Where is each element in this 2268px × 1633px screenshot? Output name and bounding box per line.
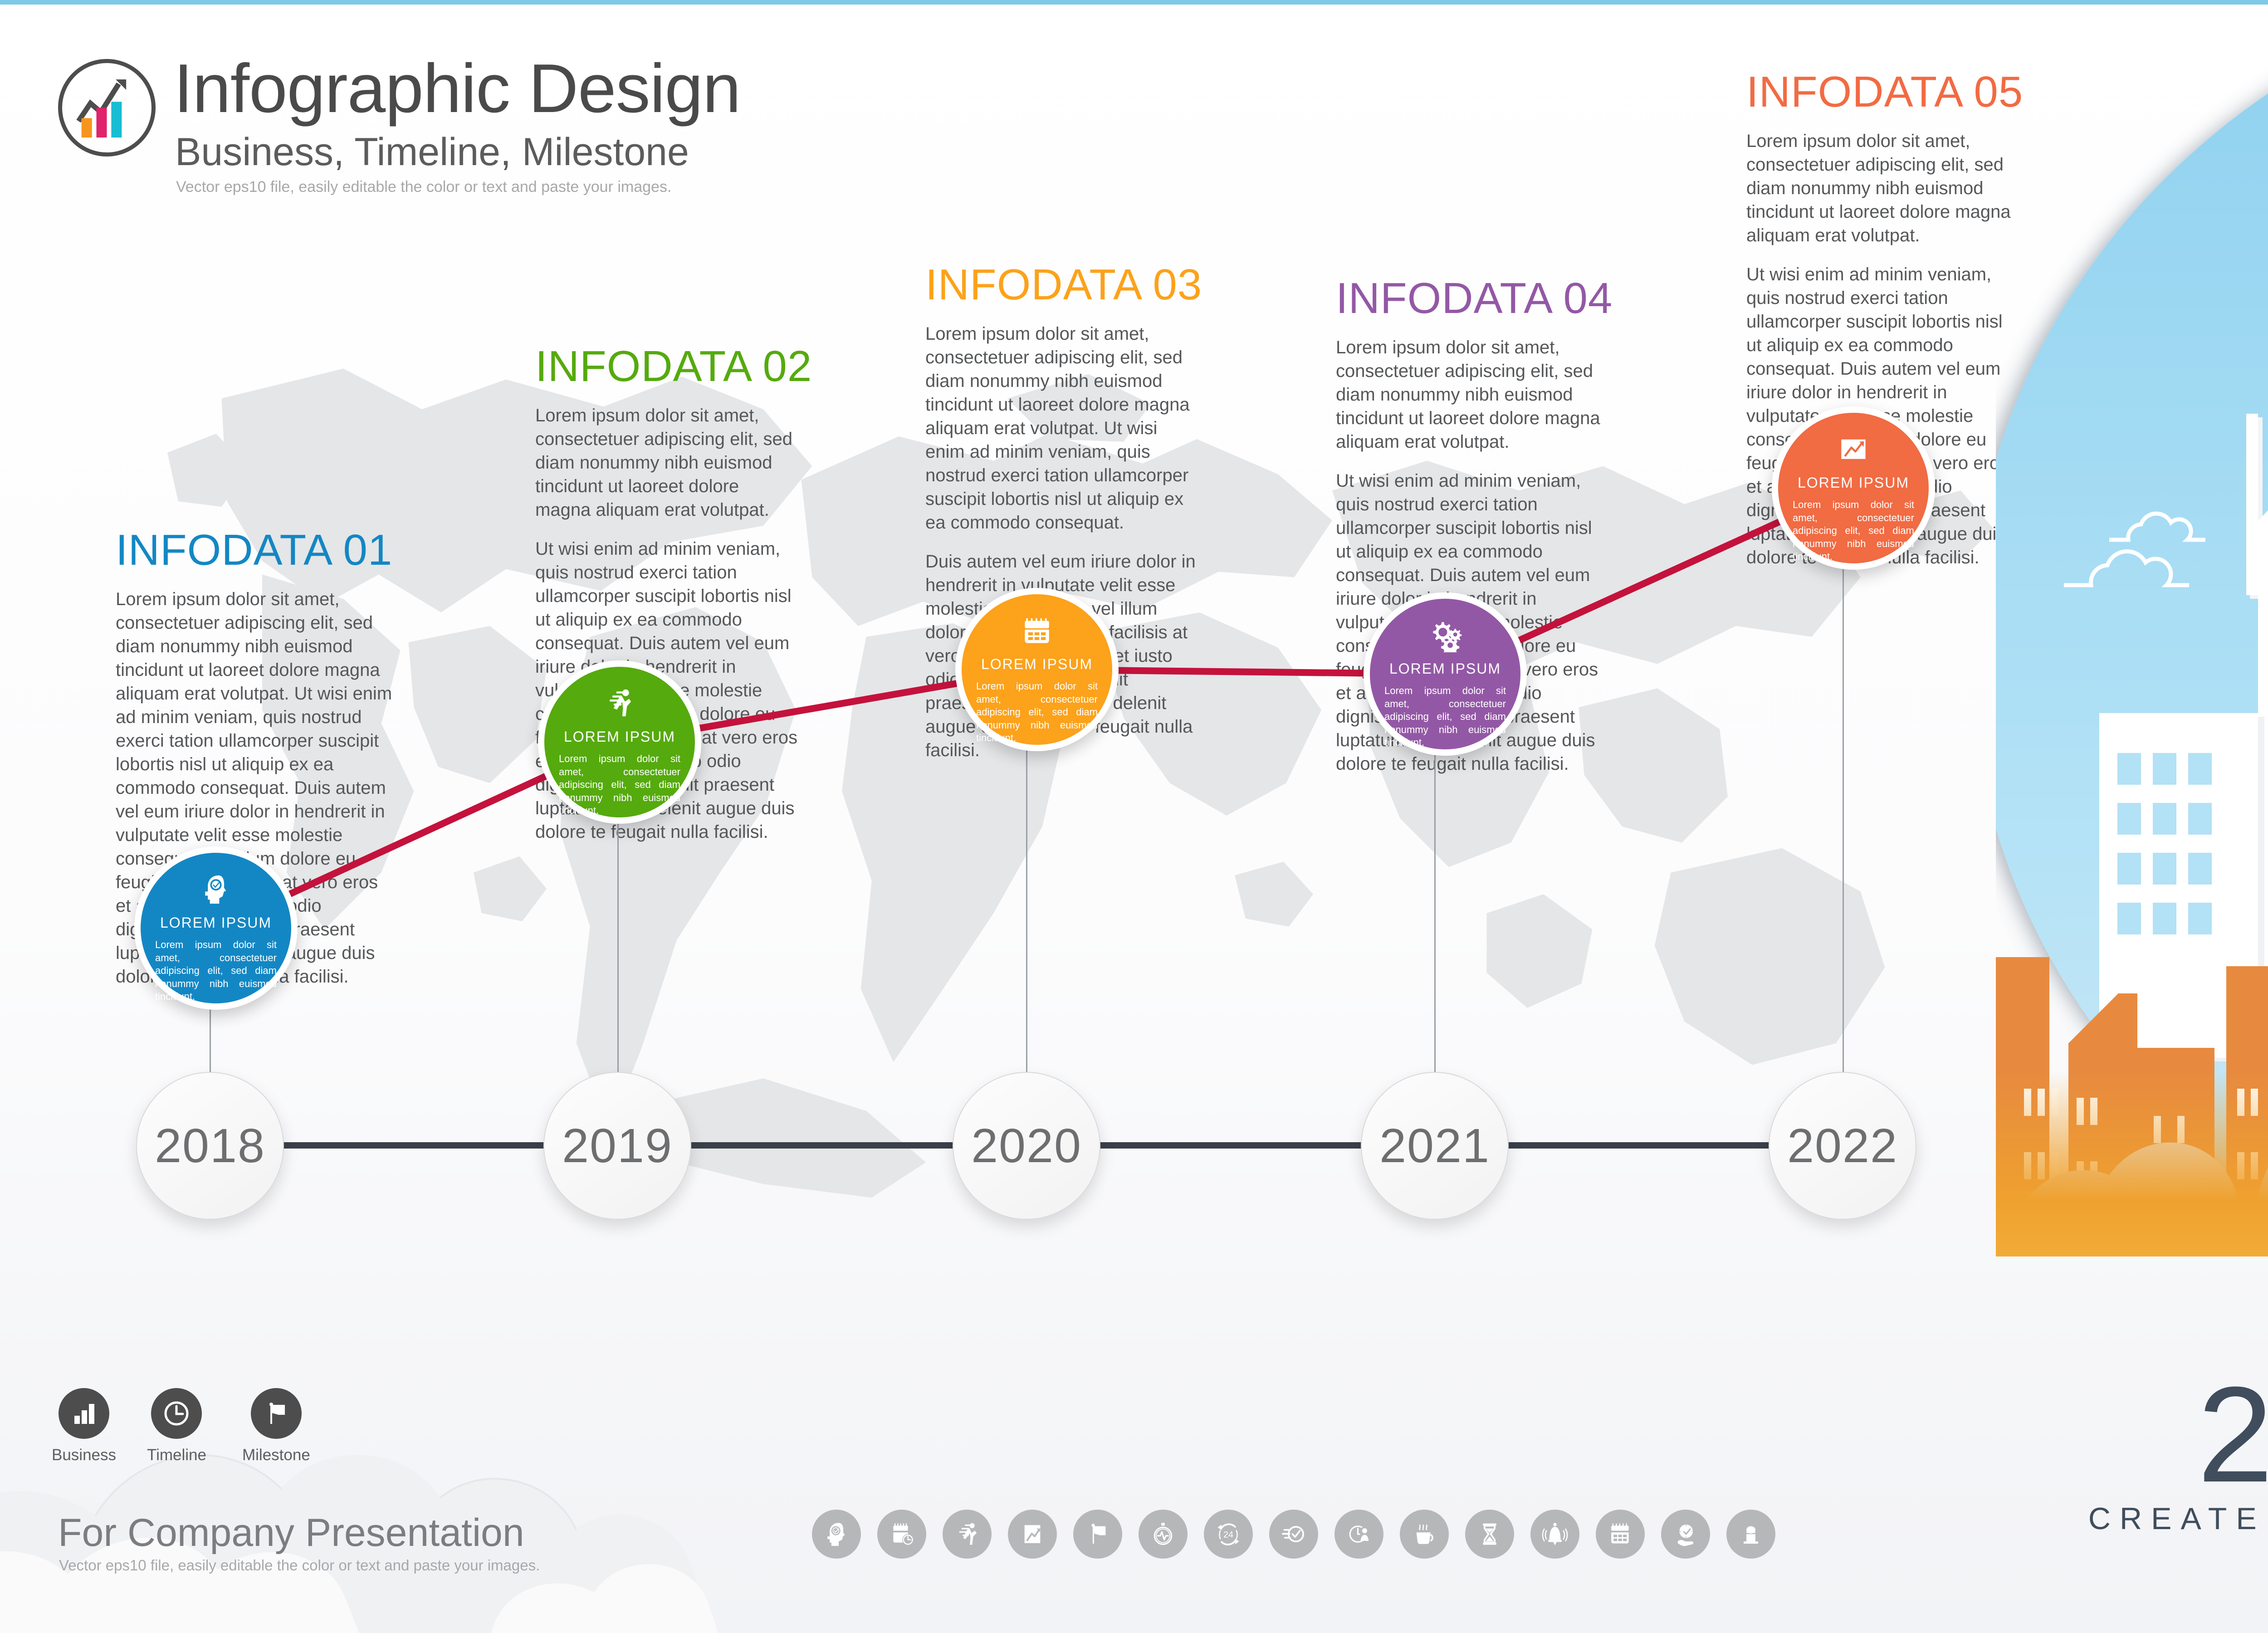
- svg-text:24: 24: [1223, 1530, 1233, 1540]
- 24-hours-icon: 24: [1214, 1520, 1242, 1548]
- calendar-clock-icon: [888, 1520, 916, 1548]
- milestone-title-2: LOREM IPSUM: [564, 728, 675, 745]
- infodata-paragraph-02-a: Lorem ipsum dolor sit amet, consectetuer…: [535, 404, 798, 522]
- calendar-icon: [1012, 614, 1062, 648]
- infodata-paragraph-04-a: Lorem ipsum dolor sit amet, consectetuer…: [1336, 336, 1603, 454]
- logo-inner-chart-icon: [62, 63, 152, 152]
- icon-strip: 24: [812, 1510, 1775, 1559]
- footer-title: For Company Presentation: [58, 1511, 524, 1555]
- speed-check-icon: [1280, 1520, 1308, 1548]
- stem-2019: [617, 816, 619, 1082]
- chart-circle-logo-icon: [58, 59, 156, 156]
- calendar-clock-icon-button[interactable]: [877, 1510, 926, 1559]
- flag-icon-circle: [251, 1388, 302, 1439]
- 24-hours-icon-button[interactable]: 24: [1204, 1510, 1253, 1559]
- clock-in-hand-icon: [1672, 1520, 1700, 1548]
- milestone-post-icon-button[interactable]: [1726, 1510, 1775, 1559]
- big-year-block: 2018 CREATE WORK INSPIRE: [2014, 1370, 2268, 1536]
- infodata-paragraph-05-a: Lorem ipsum dolor sit amet, consectetuer…: [1746, 129, 2019, 247]
- big-year-number: 2018: [2014, 1370, 2268, 1499]
- clock-person-icon: [1345, 1520, 1373, 1548]
- bell-ringing-icon: [1541, 1520, 1569, 1548]
- milestone-title-4: LOREM IPSUM: [1389, 660, 1501, 677]
- milestone-title-1: LOREM IPSUM: [160, 914, 272, 931]
- calendar-icon: [1606, 1520, 1634, 1548]
- stem-2022: [1843, 562, 1844, 1082]
- big-year-tagline: CREATE WORK INSPIRE: [2014, 1501, 2268, 1536]
- clock-icon-circle: [151, 1388, 202, 1439]
- infodata-heading-01: INFODATA 01: [116, 528, 392, 572]
- running-person-icon: [595, 687, 645, 720]
- stem-2018: [210, 1002, 211, 1082]
- flag-icon: [262, 1399, 290, 1428]
- brand-header: Infographic Design Business, Timeline, M…: [58, 50, 829, 240]
- infodata-heading-05: INFODATA 05: [1746, 70, 2019, 114]
- bar-chart-icon-circle: [59, 1388, 109, 1439]
- milestone-text-5: Lorem ipsum dolor sit amet, consectetuer…: [1793, 499, 1914, 563]
- stopwatch-pulse-icon: [1149, 1520, 1177, 1548]
- stem-2020: [1026, 744, 1027, 1082]
- head-check-icon: [191, 873, 241, 906]
- milestone-text-2: Lorem ipsum dolor sit amet, consectetuer…: [559, 753, 680, 817]
- head-check-icon: [822, 1520, 850, 1548]
- footer-note: Vector eps10 file, easily editable the c…: [59, 1557, 540, 1574]
- page-title: Infographic Design: [174, 50, 740, 127]
- feature-business[interactable]: Business: [52, 1388, 116, 1464]
- milestone-text-3: Lorem ipsum dolor sit amet, consectetuer…: [976, 680, 1098, 745]
- running-person-icon: [953, 1520, 981, 1548]
- year-node-2019[interactable]: 2019: [543, 1072, 691, 1220]
- timeline-segment-2: [690, 1142, 953, 1149]
- clock-icon: [161, 1398, 191, 1428]
- milestone-bubble-3[interactable]: LOREM IPSUM Lorem ipsum dolor sit amet, …: [955, 588, 1119, 751]
- bell-ringing-icon-button[interactable]: [1530, 1510, 1579, 1559]
- timeline-segment-1: [283, 1142, 545, 1149]
- milestone-bubble-2[interactable]: LOREM IPSUM Lorem ipsum dolor sit amet, …: [538, 660, 701, 824]
- orange-gradient-wash: [1996, 1071, 2268, 1257]
- milestone-title-3: LOREM IPSUM: [981, 656, 1093, 673]
- page-note: Vector eps10 file, easily editable the c…: [176, 178, 671, 196]
- top-accent-bar: [0, 0, 2268, 5]
- year-node-2018[interactable]: 2018: [136, 1072, 284, 1220]
- city-illustration-panel: [1996, 0, 2268, 1257]
- hourglass-icon-button[interactable]: [1465, 1510, 1514, 1559]
- year-node-2022[interactable]: 2022: [1769, 1072, 1916, 1220]
- coffee-cup-icon-button[interactable]: [1400, 1510, 1449, 1559]
- page-subtitle: Business, Timeline, Milestone: [175, 130, 689, 175]
- timeline-segment-3: [1100, 1142, 1362, 1149]
- milestone-bubble-1[interactable]: LOREM IPSUM Lorem ipsum dolor sit amet, …: [134, 846, 298, 1010]
- milestone-title-5: LOREM IPSUM: [1798, 474, 1909, 491]
- coffee-cup-icon: [1410, 1520, 1438, 1548]
- year-node-2020[interactable]: 2020: [953, 1072, 1100, 1220]
- milestone-bubble-4[interactable]: LOREM IPSUM Lorem ipsum dolor sit amet, …: [1364, 592, 1527, 756]
- feature-timeline-label: Timeline: [147, 1446, 206, 1464]
- growth-chart-icon: [1828, 433, 1878, 466]
- growth-chart-icon: [1018, 1520, 1046, 1548]
- feature-milestone[interactable]: Milestone: [242, 1388, 310, 1464]
- clock-in-hand-icon-button[interactable]: [1661, 1510, 1710, 1559]
- flag-icon: [1084, 1520, 1112, 1548]
- head-check-icon-button[interactable]: [812, 1510, 861, 1559]
- infodata-heading-03: INFODATA 03: [925, 263, 1198, 307]
- infodata-heading-04: INFODATA 04: [1336, 277, 1603, 320]
- milestone-text-4: Lorem ipsum dolor sit amet, consectetuer…: [1384, 684, 1506, 749]
- clock-person-icon-button[interactable]: [1334, 1510, 1383, 1559]
- feature-business-label: Business: [52, 1446, 116, 1464]
- speed-check-icon-button[interactable]: [1269, 1510, 1318, 1559]
- timeline-segment-4: [1508, 1142, 1769, 1149]
- feature-timeline[interactable]: Timeline: [147, 1388, 206, 1464]
- growth-chart-icon-button[interactable]: [1008, 1510, 1057, 1559]
- infographic-page: Infographic Design Business, Timeline, M…: [0, 0, 2268, 1633]
- milestone-text-1: Lorem ipsum dolor sit amet, consectetuer…: [155, 939, 277, 1003]
- bar-chart-icon: [70, 1399, 98, 1428]
- stopwatch-pulse-icon-button[interactable]: [1139, 1510, 1188, 1559]
- hourglass-icon: [1476, 1520, 1504, 1548]
- city-skyline: [1996, 0, 2268, 1257]
- infodata-paragraph-03-a: Lorem ipsum dolor sit amet, consectetuer…: [925, 322, 1198, 534]
- calendar-icon-button[interactable]: [1596, 1510, 1645, 1559]
- infodata-heading-02: INFODATA 02: [535, 345, 798, 388]
- flag-icon-button[interactable]: [1073, 1510, 1122, 1559]
- milestone-post-icon: [1737, 1520, 1765, 1548]
- milestone-bubble-5[interactable]: LOREM IPSUM Lorem ipsum dolor sit amet, …: [1772, 406, 1935, 570]
- gears-icon: [1420, 619, 1470, 652]
- year-node-2021[interactable]: 2021: [1361, 1072, 1509, 1220]
- stem-2021: [1434, 748, 1436, 1082]
- running-person-icon-button[interactable]: [943, 1510, 992, 1559]
- feature-milestone-label: Milestone: [242, 1446, 310, 1464]
